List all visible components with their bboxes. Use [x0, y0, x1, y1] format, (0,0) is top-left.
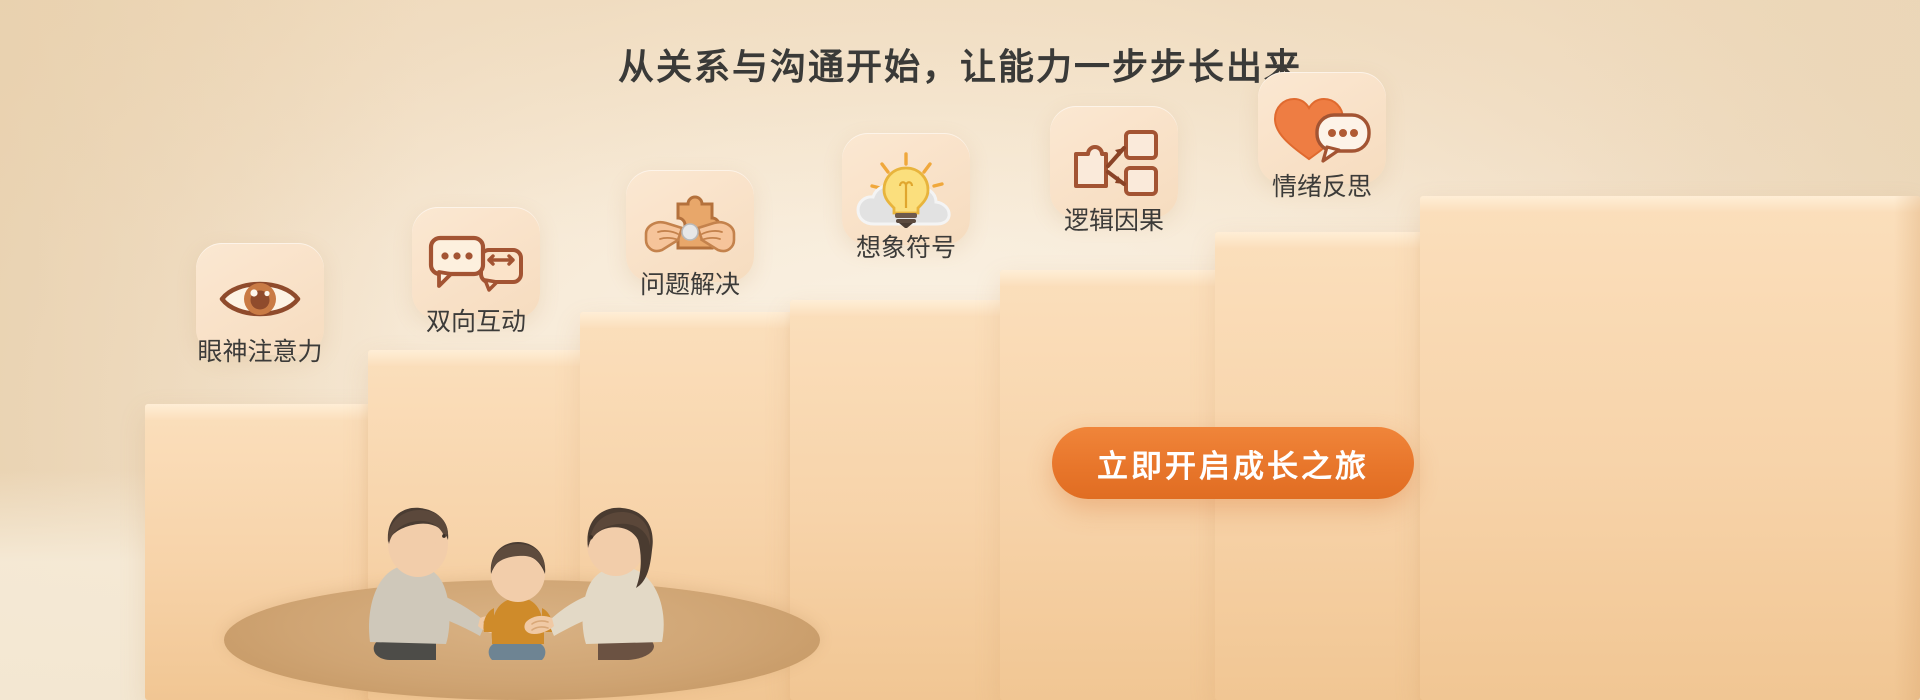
father-figure: [369, 508, 508, 660]
mother-figure: [524, 508, 663, 660]
heart-chat-icon: [1271, 93, 1373, 163]
hero-banner: 从关系与沟通开始，让能力一步步长出来 眼神注意力: [0, 0, 1920, 700]
puzzle-hands-icon: [642, 190, 738, 262]
skill-label-interaction: 双向互动: [396, 302, 556, 338]
skill-label-eye: 眼神注意力: [196, 332, 324, 368]
skill-label-problem-solving: 问题解决: [610, 265, 770, 301]
speech-bubbles-icon: [427, 232, 525, 294]
stair-step-7: [1420, 196, 1920, 700]
skill-label-logic: 逻辑因果: [1034, 201, 1194, 237]
child-figure: [483, 542, 552, 660]
eye-icon: [217, 271, 303, 327]
stair-step-4: [790, 300, 1030, 700]
start-journey-label: 立即开启成长之旅: [1097, 441, 1369, 486]
family-sitting-illustration: [340, 482, 700, 662]
flowchart-icon: [1066, 126, 1162, 198]
lightbulb-cloud-icon: [856, 150, 956, 228]
skill-label-emotion: 情绪反思: [1242, 167, 1402, 203]
skill-label-imagination: 想象符号: [826, 228, 986, 264]
start-journey-button[interactable]: 立即开启成长之旅: [1052, 427, 1414, 499]
